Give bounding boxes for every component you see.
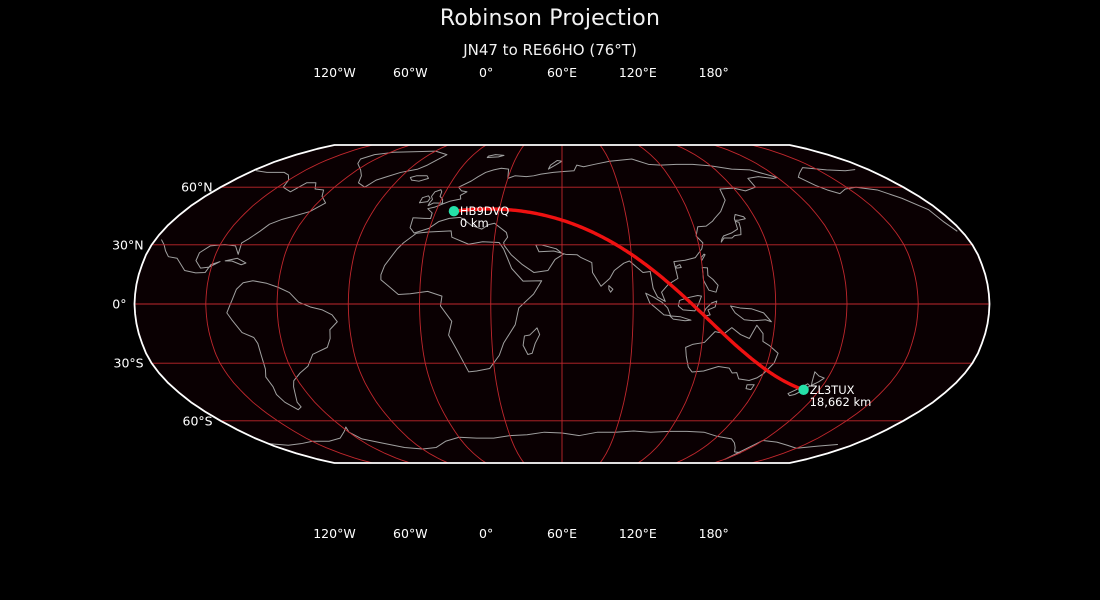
- lon-tick-label-bottom: 60°W: [393, 526, 428, 541]
- map-figure: Robinson Projection JN47 to RE66HO (76°T…: [0, 0, 1100, 600]
- lon-tick-label-bottom: 60°E: [547, 526, 577, 541]
- lon-tick-label-bottom: 180°: [699, 526, 729, 541]
- lon-tick-label-bottom: 0°: [479, 526, 493, 541]
- lat-tick-label: 0°: [112, 297, 126, 312]
- robinson-map: 60°W60°W0°0°60°E60°E120°E120°E180°180°12…: [0, 0, 1100, 600]
- lon-tick-label-top: 120°W: [313, 65, 355, 80]
- lon-tick-label-top: 180°: [699, 65, 729, 80]
- lon-tick-label-top: 60°W: [393, 65, 428, 80]
- lon-tick-label-top: 60°E: [547, 65, 577, 80]
- lat-tick-label: 30°N: [112, 237, 144, 252]
- lat-tick-label: 60°S: [183, 413, 213, 428]
- station-marker-hb9dvq[interactable]: [449, 206, 459, 216]
- station-distance-label: 18,662 km: [810, 395, 872, 409]
- lon-tick-label-top: 0°: [479, 65, 493, 80]
- lon-tick-label-bottom: 120°W: [313, 526, 355, 541]
- lon-tick-label-bottom: 120°E: [619, 526, 657, 541]
- station-distance-label: 0 km: [460, 216, 489, 230]
- lat-tick-label: 30°S: [114, 356, 144, 371]
- station-marker-zl3tux[interactable]: [798, 385, 808, 395]
- lon-tick-label-top: 120°E: [619, 65, 657, 80]
- lat-tick-label: 60°N: [181, 180, 213, 195]
